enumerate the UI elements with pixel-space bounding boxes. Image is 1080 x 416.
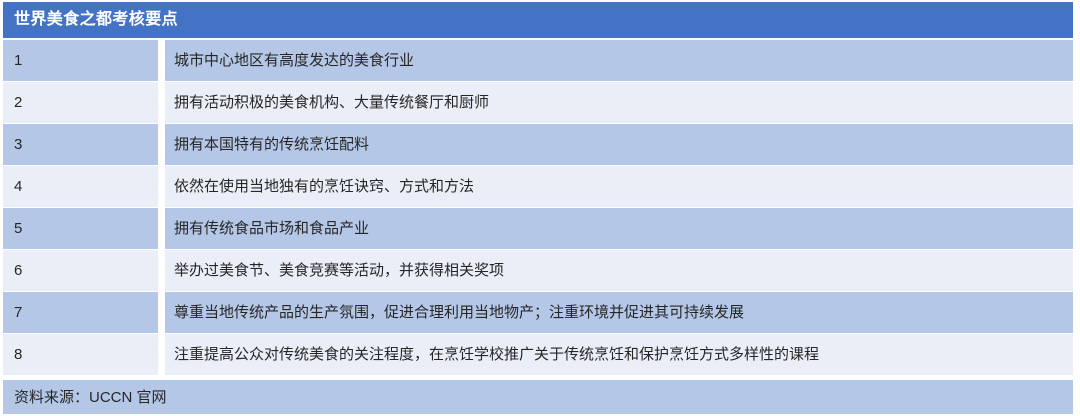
criteria-table: 世界美食之都考核要点 1 城市中心地区有高度发达的美食行业 2 拥有活动积极的美… xyxy=(0,0,1080,416)
row-number: 4 xyxy=(3,166,158,207)
row-text: 拥有活动积极的美食机构、大量传统餐厅和厨师 xyxy=(165,82,1073,123)
row-number: 6 xyxy=(3,250,158,291)
table-header-bar: 世界美食之都考核要点 xyxy=(3,2,1073,38)
row-number: 5 xyxy=(3,208,158,249)
column-divider xyxy=(158,82,165,123)
column-divider xyxy=(158,208,165,249)
table-row: 4 依然在使用当地独有的烹饪诀窍、方式和方法 xyxy=(3,166,1073,207)
table-body: 1 城市中心地区有高度发达的美食行业 2 拥有活动积极的美食机构、大量传统餐厅和… xyxy=(3,40,1073,375)
row-text: 举办过美食节、美食竞赛等活动，并获得相关奖项 xyxy=(165,250,1073,291)
row-number: 8 xyxy=(3,334,158,375)
row-number: 2 xyxy=(3,82,158,123)
table-row: 6 举办过美食节、美食竞赛等活动，并获得相关奖项 xyxy=(3,250,1073,291)
column-divider xyxy=(158,124,165,165)
table-title: 世界美食之都考核要点 xyxy=(14,12,178,28)
row-text: 拥有传统食品市场和食品产业 xyxy=(165,208,1073,249)
table-row: 5 拥有传统食品市场和食品产业 xyxy=(3,208,1073,249)
column-divider xyxy=(158,334,165,375)
table-row: 1 城市中心地区有高度发达的美食行业 xyxy=(3,40,1073,81)
column-divider xyxy=(158,40,165,81)
row-text: 城市中心地区有高度发达的美食行业 xyxy=(165,40,1073,81)
row-number: 3 xyxy=(3,124,158,165)
row-number: 7 xyxy=(3,292,158,333)
row-text: 尊重当地传统产品的生产氛围，促进合理利用当地物产；注重环境并促进其可持续发展 xyxy=(165,292,1073,333)
table-row: 8 注重提高公众对传统美食的关注程度，在烹饪学校推广关于传统烹饪和保护烹饪方式多… xyxy=(3,334,1073,375)
table-row: 2 拥有活动积极的美食机构、大量传统餐厅和厨师 xyxy=(3,82,1073,123)
table-row: 3 拥有本国特有的传统烹饪配料 xyxy=(3,124,1073,165)
column-divider xyxy=(158,166,165,207)
column-divider xyxy=(158,292,165,333)
row-text: 依然在使用当地独有的烹饪诀窍、方式和方法 xyxy=(165,166,1073,207)
source-text: 资料来源：UCCN 官网 xyxy=(14,390,167,405)
table-row: 7 尊重当地传统产品的生产氛围，促进合理利用当地物产；注重环境并促进其可持续发展 xyxy=(3,292,1073,333)
row-text: 注重提高公众对传统美食的关注程度，在烹饪学校推广关于传统烹饪和保护烹饪方式多样性… xyxy=(165,334,1073,375)
row-text: 拥有本国特有的传统烹饪配料 xyxy=(165,124,1073,165)
column-divider xyxy=(158,250,165,291)
table-source-bar: 资料来源：UCCN 官网 xyxy=(3,380,1073,414)
row-number: 1 xyxy=(3,40,158,81)
